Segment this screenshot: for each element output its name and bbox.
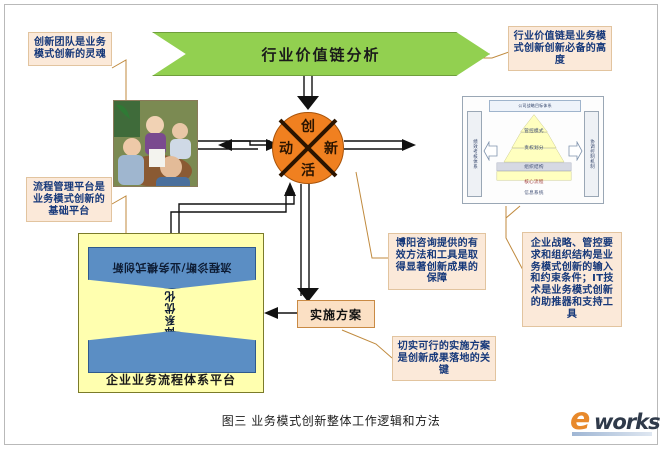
wheel-quadrant-right: 新 [324,138,338,158]
wheel-quadrant-bottom: 活 [301,160,315,180]
platform-upper-label: 流程诊断/业务模式创新 [112,260,232,276]
watermark-works: works [594,412,660,433]
value-chain-banner: 行业价值链分析 [152,32,490,76]
wheel-quadrant-left: 动 [279,138,293,158]
team-photo [113,100,198,187]
note-value-chain: 行业价值链是业务模式创新创新必备的高度 [508,26,612,71]
pyramid-left-arrow-icon [483,141,499,161]
pyramid-top-bar: 公司战略目标体系 [489,100,581,112]
figure-canvas: 行业价值链分析 创 动 新 活 公司战略 [0,0,662,449]
watermark-e: e [570,405,590,435]
pyramid-tier-0: 管控模式 [485,126,583,136]
banner-label: 行业价值链分析 [152,32,490,76]
note-process-platform: 流程管理平台是业务模式创新的基础平台 [26,177,112,222]
team-photo-image [114,101,197,186]
note-strategy-it: 企业战略、管控要求和组织结构是业务模式创新的输入和约束条件；IT技术是业务模式创… [522,232,622,327]
wheel-quadrant-top: 创 [301,116,315,136]
pyramid-tier-4: 信息系统 [485,188,583,197]
platform-lower-box [88,331,256,373]
pyramid-left-column: 绩效考核体系 [467,111,482,197]
eworks-watermark: e works [568,401,654,443]
pyramid-right-label: 协调控制机制 [589,139,595,169]
innovation-wheel: 创 动 新 活 [272,112,344,184]
process-platform: 流程诊断/业务模式创新 流程体系优化 企业业务流程体系平台 [78,233,264,393]
pyramid-right-column: 协调控制机制 [584,111,599,197]
figure-caption: 图三 业务模式创新整体工作逻辑和方法 [0,412,662,429]
watermark-bar [572,432,652,436]
pyramid-tier-3: 核心流程 [485,177,583,186]
pyramid-right-arrow-icon [567,141,583,161]
pyramid-left-label: 绩效考核体系 [472,139,478,169]
note-consulting: 博阳咨询提供的有效方法和工具是取得显著创新成果的保障 [388,233,486,290]
platform-caption: 企业业务流程体系平台 [79,371,263,388]
pyramid-tier-2: 组织结构 [485,161,583,172]
note-implementation: 切实可行的实施方案是创新成果落地的关键 [392,336,496,381]
platform-upper-box: 流程诊断/业务模式创新 [88,247,256,289]
management-pyramid: 公司战略目标体系 绩效考核体系 协调控制机制 管控模式 责权划分 组织结构 核心… [462,96,604,204]
implementation-plan-box: 实施方案 [297,300,375,328]
note-team: 创新团队是业务模式创新的灵魂 [28,32,112,66]
